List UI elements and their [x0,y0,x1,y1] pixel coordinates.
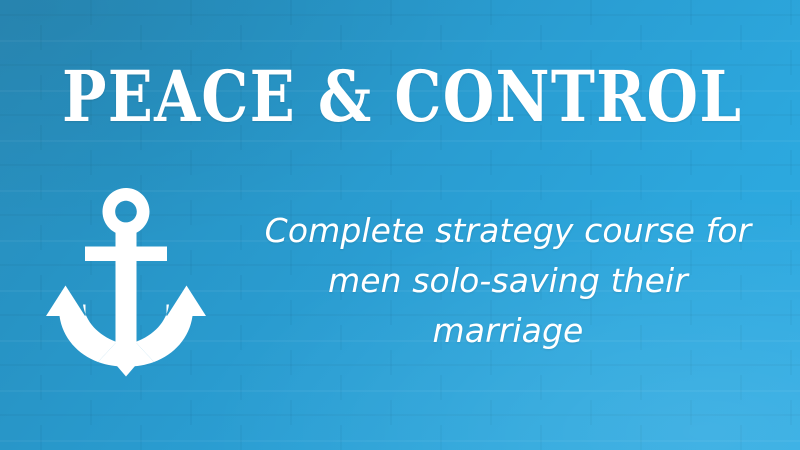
page-title: PEACE & CONTROL [62,59,738,135]
promo-slide: PEACE & CONTROL Complete strategy course [0,0,800,450]
subtitle-line-3: marriage [258,306,758,356]
anchor-icon [40,182,212,380]
subtitle: Complete strategy course for men solo-sa… [258,206,758,356]
subtitle-line-1: Complete strategy course for [258,206,758,256]
subtitle-line-2: men solo-saving their [258,256,758,306]
